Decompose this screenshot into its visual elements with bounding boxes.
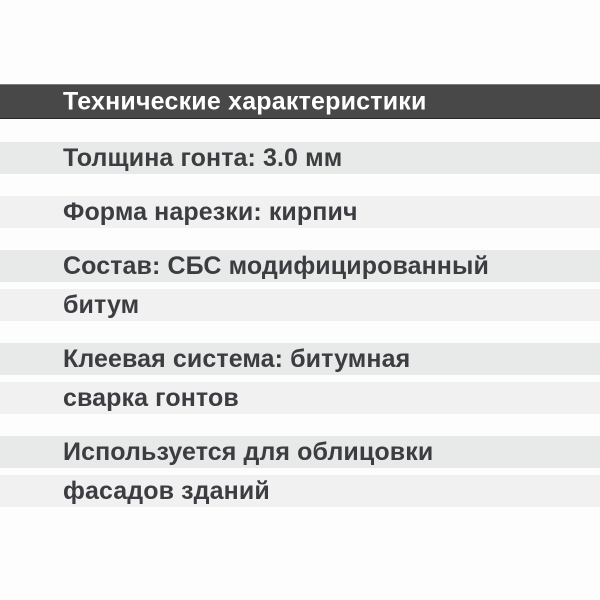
spec-header-bar: Технические характеристики (0, 84, 600, 119)
spec-line-label: Клеевая система: битумная (0, 347, 410, 372)
spec-line-label: Состав: СБС модифицированный (0, 254, 489, 279)
list-item: Форма нарезки: кирпич (0, 196, 600, 228)
spec-gap (0, 321, 600, 343)
spec-line-label: битум (0, 293, 139, 318)
spec-gap (0, 174, 600, 196)
spec-list: Толщина гонта: 3.0 мм Форма нарезки: кир… (0, 142, 600, 507)
list-item-continuation: фасадов зданий (0, 475, 600, 507)
spec-line-label: Форма нарезки: кирпич (0, 200, 358, 225)
page-title: Технические характеристики (63, 89, 427, 114)
spec-line-label: Толщина гонта: 3.0 мм (0, 146, 342, 171)
spec-gap (0, 228, 600, 250)
spec-line-label: сварка гонтов (0, 386, 239, 411)
spec-line-gap (0, 282, 600, 289)
list-item: Используется для облицовки (0, 436, 600, 468)
spec-sheet: Технические характеристики Толщина гонта… (0, 0, 600, 600)
spec-line-gap (0, 375, 600, 382)
list-item: Клеевая система: битумная (0, 343, 600, 375)
spec-line-label: Используется для облицовки (0, 440, 433, 465)
spec-gap (0, 414, 600, 436)
list-item: Состав: СБС модифицированный (0, 250, 600, 282)
list-item-continuation: битум (0, 289, 600, 321)
list-item-continuation: сварка гонтов (0, 382, 600, 414)
spec-line-label: фасадов зданий (0, 479, 270, 504)
list-item: Толщина гонта: 3.0 мм (0, 142, 600, 174)
spec-line-gap (0, 468, 600, 475)
